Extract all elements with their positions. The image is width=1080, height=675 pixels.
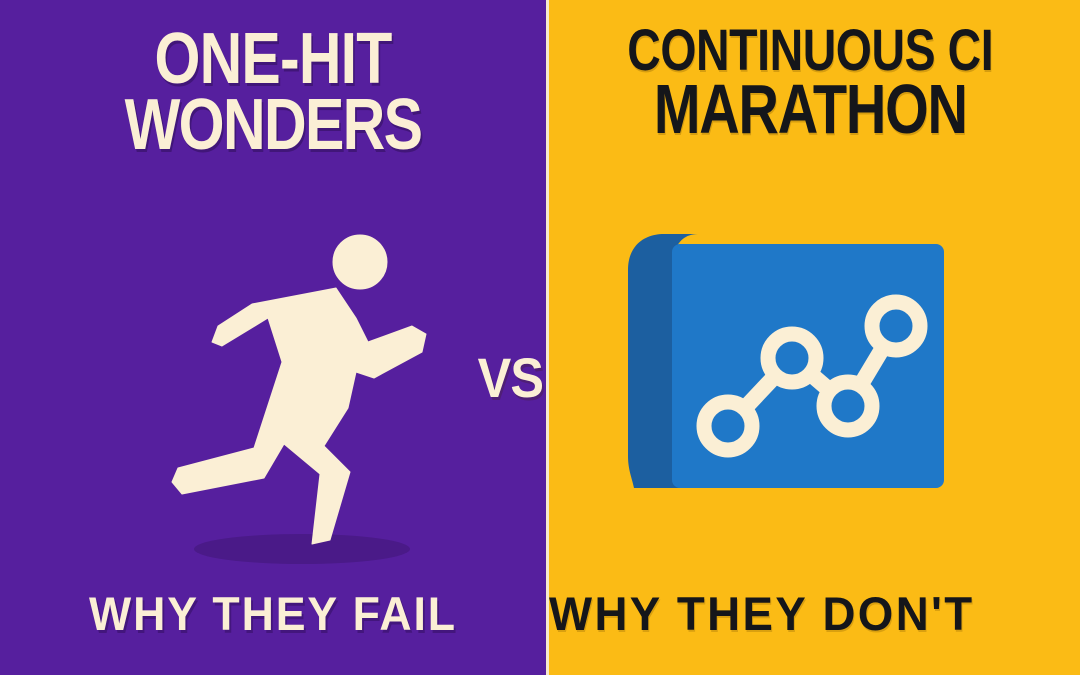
runner-body xyxy=(172,235,426,544)
right-title: CONTINUOUS CI MARATHON xyxy=(598,24,1023,142)
left-title-line1: ONE-HIT xyxy=(49,26,497,92)
right-caption: WHY THEY DON'T xyxy=(549,586,975,641)
runner-shadow-ellipse xyxy=(194,534,410,564)
chart-marker-4 xyxy=(872,302,920,350)
left-title: ONE-HIT WONDERS xyxy=(49,26,497,158)
left-caption: WHY THEY FAIL xyxy=(14,586,533,641)
chart-marker-1 xyxy=(704,402,752,450)
runner-silhouette xyxy=(172,288,426,544)
comparison-thumbnail: ONE-HIT WONDERS WHY THEY FAIL CONTINUOUS… xyxy=(0,0,1080,675)
left-title-line2: WONDERS xyxy=(49,92,497,158)
panel-divider xyxy=(546,0,549,675)
running-person-icon xyxy=(160,222,440,567)
left-panel: ONE-HIT WONDERS WHY THEY FAIL xyxy=(0,0,546,675)
right-title-line2: MARATHON xyxy=(598,77,1023,141)
right-title-line1: CONTINUOUS CI xyxy=(598,24,1023,77)
chart-marker-3 xyxy=(824,382,872,430)
runner-head xyxy=(333,235,387,289)
chart-marker-2 xyxy=(768,334,816,382)
line-chart-scroll-icon xyxy=(620,230,956,496)
